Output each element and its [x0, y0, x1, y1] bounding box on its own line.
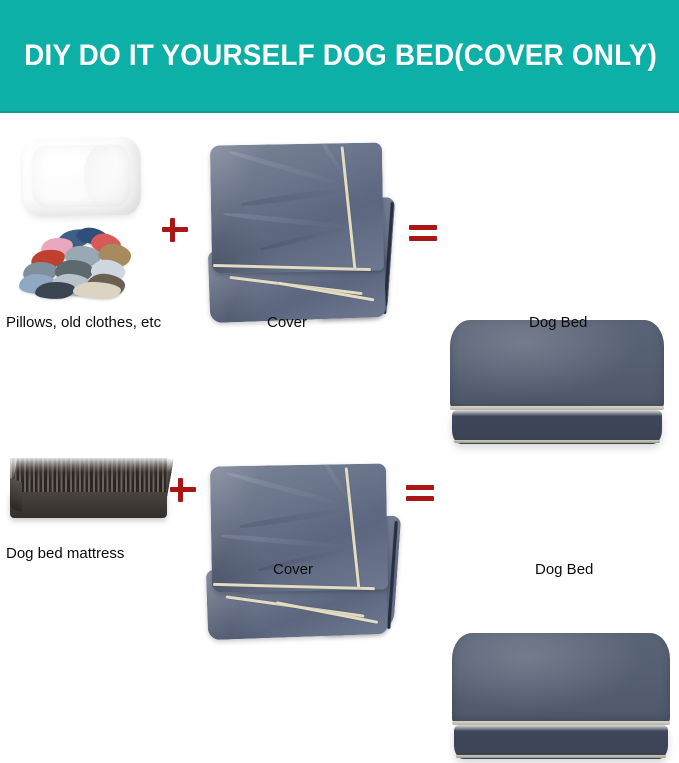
pillow-image [23, 138, 141, 216]
caption-dogbed-row2: Dog Bed [535, 561, 593, 578]
dog-bed-image [452, 633, 670, 763]
equals-icon [408, 217, 438, 247]
plus-icon [168, 475, 198, 505]
caption-cover-row2: Cover [273, 561, 313, 578]
clothes-pile-icon [17, 228, 145, 300]
caption-pillows: Pillows, old clothes, etc [6, 314, 161, 331]
pillow-icon [22, 137, 142, 217]
equals-icon [405, 477, 435, 507]
header-banner: DIY DO IT YOURSELF DOG BED(COVER ONLY) [0, 0, 679, 113]
diy-row-pillows: Pillows, old clothes, etc Cover Dog Bed [0, 118, 679, 350]
egg-crate-mattress-image [10, 458, 167, 518]
clothes-pile-image [17, 228, 145, 300]
caption-dogbed-row1: Dog Bed [529, 314, 587, 331]
diy-row-mattress: Dog bed mattress Cover Dog Bed [0, 385, 679, 603]
page-title: DIY DO IT YOURSELF DOG BED(COVER ONLY) [0, 39, 657, 73]
folded-cover-image [205, 463, 397, 628]
folded-cover-image [205, 140, 390, 310]
plus-icon [160, 215, 190, 245]
caption-mattress: Dog bed mattress [6, 545, 124, 562]
caption-cover-row1: Cover [267, 314, 307, 331]
